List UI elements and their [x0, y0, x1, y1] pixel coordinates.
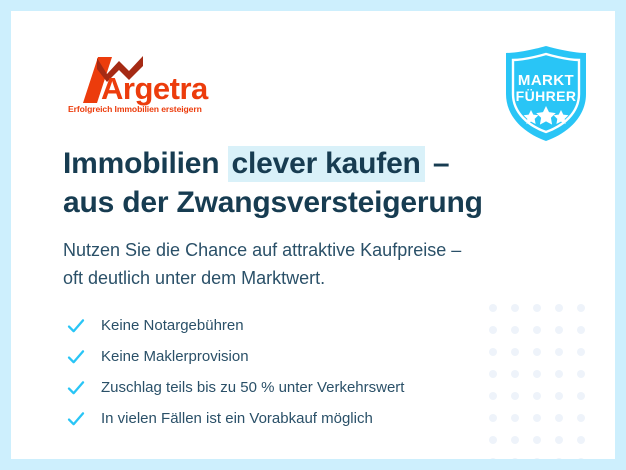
- headline-line-1: Immobilien clever kaufen –: [63, 144, 563, 183]
- decorative-dot: [533, 458, 541, 459]
- subheadline-line-1: Nutzen Sie die Chance auf attraktive Kau…: [63, 236, 563, 264]
- decorative-dot: [511, 458, 519, 459]
- decorative-dot: [533, 414, 541, 422]
- decorative-dot: [577, 348, 585, 356]
- headline-text-before: Immobilien: [63, 147, 228, 180]
- decorative-dot: [555, 304, 563, 312]
- decorative-dot: [533, 326, 541, 334]
- decorative-dot: [555, 370, 563, 378]
- list-item-label: In vielen Fällen ist ein Vorabkauf mögli…: [101, 410, 373, 428]
- headline-highlight: clever kaufen: [228, 146, 425, 182]
- decorative-dot: [533, 436, 541, 444]
- list-item: Keine Maklerprovision: [67, 341, 527, 372]
- decorative-dot: [533, 348, 541, 356]
- badge-line1: MARKT: [518, 72, 574, 89]
- decorative-dot: [533, 304, 541, 312]
- market-leader-badge: MARKT FÜHRER: [500, 44, 592, 144]
- subheadline: Nutzen Sie die Chance auf attraktive Kau…: [63, 236, 563, 292]
- decorative-dot: [577, 326, 585, 334]
- decorative-dot: [533, 370, 541, 378]
- decorative-dot: [555, 348, 563, 356]
- benefit-list: Keine NotargebührenKeine Maklerprovision…: [67, 310, 527, 434]
- decorative-dot: [577, 458, 585, 459]
- logo-tagline: Erfolgreich Immobilien ersteigern: [68, 104, 202, 114]
- headline-line-2: aus der Zwangsversteigerung: [63, 183, 563, 222]
- list-item-label: Zuschlag teils bis zu 50 % unter Verkehr…: [101, 379, 404, 397]
- page-title: Immobilien clever kaufen – aus der Zwang…: [63, 144, 563, 222]
- decorative-dot: [555, 326, 563, 334]
- check-icon: [67, 348, 85, 366]
- logo-wordmark: Argetra: [101, 71, 209, 106]
- dot-row: [489, 436, 615, 444]
- list-item: Zuschlag teils bis zu 50 % unter Verkehr…: [67, 372, 527, 403]
- decorative-dot: [555, 458, 563, 459]
- check-icon: [67, 379, 85, 397]
- decorative-dot: [511, 436, 519, 444]
- promo-card: Argetra Erfolgreich Immobilien ersteiger…: [11, 11, 615, 459]
- list-item-label: Keine Maklerprovision: [101, 348, 249, 366]
- subheadline-line-2: oft deutlich unter dem Marktwert.: [63, 264, 563, 292]
- decorative-dot: [555, 414, 563, 422]
- decorative-dot: [555, 436, 563, 444]
- decorative-dot: [577, 392, 585, 400]
- argetra-logo: Argetra Erfolgreich Immobilien ersteiger…: [67, 53, 247, 115]
- check-icon: [67, 410, 85, 428]
- badge-line2: FÜHRER: [516, 88, 577, 104]
- decorative-dot: [489, 436, 497, 444]
- decorative-dot: [533, 392, 541, 400]
- dot-row: [489, 458, 615, 459]
- decorative-dot: [555, 392, 563, 400]
- decorative-dot: [577, 436, 585, 444]
- decorative-dot: [577, 414, 585, 422]
- check-icon: [67, 317, 85, 335]
- list-item: In vielen Fällen ist ein Vorabkauf mögli…: [67, 403, 527, 434]
- decorative-dot: [489, 458, 497, 459]
- headline-text-after: –: [425, 147, 450, 180]
- decorative-dot: [577, 304, 585, 312]
- decorative-dot: [577, 370, 585, 378]
- outer-frame: Argetra Erfolgreich Immobilien ersteiger…: [0, 0, 626, 470]
- list-item: Keine Notargebühren: [67, 310, 527, 341]
- list-item-label: Keine Notargebühren: [101, 317, 244, 335]
